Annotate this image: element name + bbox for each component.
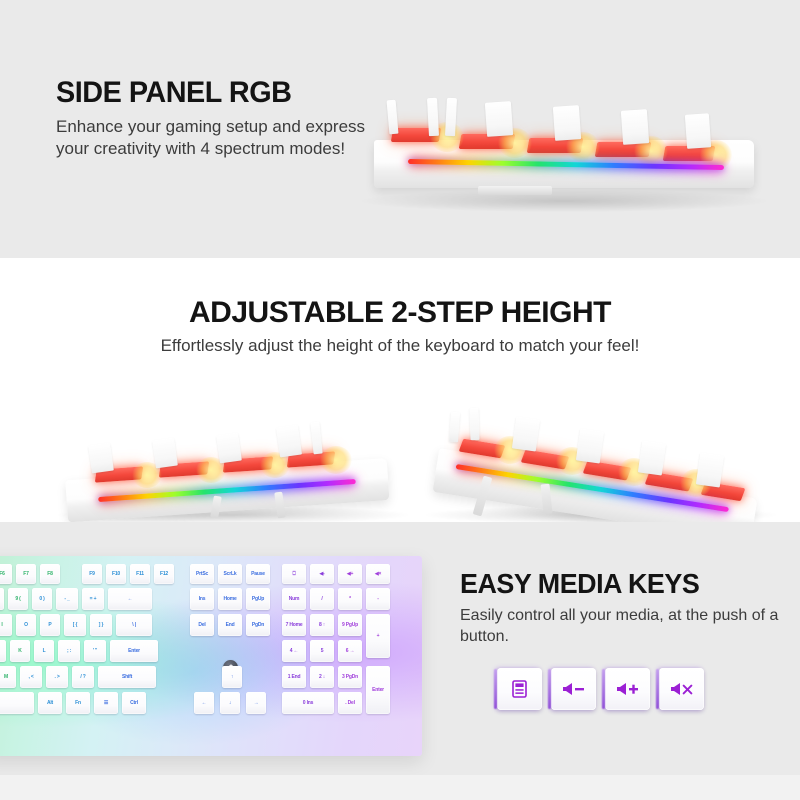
keycap (576, 428, 604, 463)
panel-1-headline: SIDE PANEL RGB (56, 78, 354, 109)
keyboard-key[interactable]: 9 ( (8, 588, 28, 610)
keycap (88, 443, 114, 474)
keyboard-key[interactable]: K (10, 640, 30, 662)
keyboard-key[interactable]: Enter (366, 666, 390, 714)
keycap (696, 452, 724, 487)
keycap (638, 440, 666, 475)
keyboard-key[interactable]: 0 Ins (282, 692, 334, 714)
keyboard-key[interactable]: F10 (106, 564, 126, 584)
keyboard-key[interactable]: * (338, 588, 362, 610)
panel-2-text-block: ADJUSTABLE 2-STEP HEIGHT Effortlessly ad… (0, 298, 800, 357)
keycap (685, 113, 711, 149)
keyboard-key[interactable]: 2 ↓ (310, 666, 334, 688)
keyboard-key[interactable]: ◀- (310, 564, 334, 584)
full-keyboard-top-view: F6F7F8F9F10F11F12PrtScScrLkPause⎕◀-◀+◀×8… (0, 556, 422, 756)
keyboard-key[interactable]: / (310, 588, 334, 610)
keyboard-key[interactable]: = + (82, 588, 104, 610)
volume-mute-key[interactable] (659, 668, 704, 710)
media-keys-row (497, 668, 704, 710)
keyboard-key[interactable]: Shift (98, 666, 156, 688)
keyboard-key[interactable]: Home (218, 588, 242, 610)
keyboard-key[interactable]: Alt (38, 692, 62, 714)
keyboard-key[interactable]: PrtSc (190, 564, 214, 584)
volume-up-key[interactable] (605, 668, 650, 710)
keycap (485, 101, 513, 137)
keyboard-key[interactable]: - (366, 588, 390, 610)
keycap (553, 105, 581, 141)
keyboard-key[interactable]: F7 (16, 564, 36, 584)
keyboard-key[interactable]: ↑ (222, 666, 242, 688)
keyboard-key[interactable]: Del (190, 614, 214, 636)
keyboard-side-view-step-1 (62, 422, 402, 518)
keyboard-key[interactable]: ↓ (220, 692, 240, 714)
keyboard-key[interactable]: F8 (40, 564, 60, 584)
panel-3-headline: EASY MEDIA KEYS (460, 570, 767, 599)
keycap (152, 438, 178, 469)
keyboard-key[interactable]: 7 Home (282, 614, 306, 636)
keycap (276, 425, 302, 458)
keycap (449, 412, 460, 443)
keyboard-key[interactable]: Enter (110, 640, 158, 662)
keyboard-key[interactable]: ; : (58, 640, 80, 662)
panel-1-body: Enhance your gaming setup and express yo… (56, 116, 366, 161)
keyboard-key[interactable]: Ctrl (122, 692, 146, 714)
panel-3-body: Easily control all your media, at the pu… (460, 605, 780, 647)
keyboard-key[interactable]: ☰ (94, 692, 118, 714)
keyboard-key[interactable]: 8 * (0, 588, 4, 610)
volume-down-icon (562, 682, 586, 696)
keyboard-key[interactable]: PgDn (246, 614, 270, 636)
keyboard-key[interactable]: End (218, 614, 242, 636)
keyboard-side-view-rgb (368, 96, 760, 200)
keyboard-key[interactable]: P (40, 614, 60, 636)
keyboard-foot (478, 186, 552, 195)
keyboard-key[interactable]: Num (282, 588, 306, 610)
volume-up-icon (616, 682, 640, 696)
keyboard-key[interactable]: 0 ) (32, 588, 52, 610)
keycap (387, 100, 399, 135)
keycap (469, 408, 479, 440)
keyboard-key[interactable]: ← (194, 692, 214, 714)
keyboard-key[interactable]: ] } (90, 614, 112, 636)
switch-glow (320, 446, 352, 474)
keyboard-shadow (362, 190, 766, 212)
keyboard-key[interactable]: ← (108, 588, 152, 610)
keyboard-key[interactable]: 3 PgDn (338, 666, 362, 688)
keyboard-key[interactable]: . > (46, 666, 68, 688)
keyboard-key[interactable]: - _ (56, 588, 78, 610)
keyboard-key[interactable]: 6 → (338, 640, 362, 662)
keyboard-key[interactable]: 8 ↑ (310, 614, 334, 636)
calculator-key[interactable] (497, 668, 542, 710)
keyboard-side-view-step-2 (430, 406, 770, 518)
keyboard-key[interactable]: Fn (66, 692, 90, 714)
keyboard-key[interactable]: O (16, 614, 36, 636)
panel-3-text-block: EASY MEDIA KEYS Easily control all your … (460, 570, 780, 647)
keyboard-key[interactable] (0, 692, 34, 714)
calculator-icon (512, 680, 527, 698)
keyboard-key[interactable]: F6 (0, 564, 12, 584)
keyboard-key[interactable]: Pause (246, 564, 270, 584)
panel-side-panel-rgb: SIDE PANEL RGB Enhance your gaming setup… (0, 0, 800, 258)
keyboard-key[interactable]: F11 (130, 564, 150, 584)
keycap (427, 98, 439, 136)
keyboard-key[interactable]: 1 End (282, 666, 306, 688)
keyboard-key[interactable]: ⎕ (282, 564, 306, 584)
panel-2-body: Effortlessly adjust the height of the ke… (0, 335, 800, 357)
panel-1-text-block: SIDE PANEL RGB Enhance your gaming setup… (56, 78, 366, 160)
keyboard-key[interactable]: I (0, 614, 12, 636)
keyboard-key[interactable]: 9 PgUp (338, 614, 362, 636)
keyboard-key[interactable]: → (246, 692, 266, 714)
keyboard-key[interactable]: M (0, 666, 16, 688)
keycap (216, 433, 242, 464)
panel-2-headline: ADJUSTABLE 2-STEP HEIGHT (0, 298, 800, 329)
panel-easy-media-keys: EASY MEDIA KEYS Easily control all your … (0, 522, 800, 775)
keycap (310, 422, 322, 455)
keyboard-key[interactable]: ◀+ (338, 564, 362, 584)
volume-down-key[interactable] (551, 668, 596, 710)
keycap (621, 109, 649, 145)
keyboard-key[interactable]: PgUp (246, 588, 270, 610)
keyboard-key[interactable]: + (366, 614, 390, 658)
keyboard-key[interactable]: L (34, 640, 54, 662)
keyboard-key[interactable]: / ? (72, 666, 94, 688)
volume-mute-icon (670, 682, 694, 696)
panel-adjustable-height: ADJUSTABLE 2-STEP HEIGHT Effortlessly ad… (0, 258, 800, 522)
keyboard-key[interactable]: 5 (310, 640, 334, 662)
keyboard-key[interactable]: ◀× (366, 564, 390, 584)
keyboard-key[interactable]: J (0, 640, 6, 662)
keyboard-key[interactable]: Ins (190, 588, 214, 610)
keycap (512, 416, 540, 451)
keyboard-key[interactable]: , < (20, 666, 42, 688)
bottom-strip (0, 775, 800, 800)
product-feature-page: SIDE PANEL RGB Enhance your gaming setup… (0, 0, 800, 800)
keycap (445, 98, 457, 136)
keyboard-key[interactable]: . Del (338, 692, 362, 714)
keyboard-key[interactable]: ScrLk (218, 564, 242, 584)
keyboard-key[interactable]: 4 ← (282, 640, 306, 662)
keyboard-key[interactable]: F9 (82, 564, 102, 584)
keyboard-key[interactable]: F12 (154, 564, 174, 584)
keyboard-key[interactable]: ' " (84, 640, 106, 662)
keyboard-key[interactable]: \ | (116, 614, 152, 636)
keyboard-key[interactable]: [ { (64, 614, 86, 636)
